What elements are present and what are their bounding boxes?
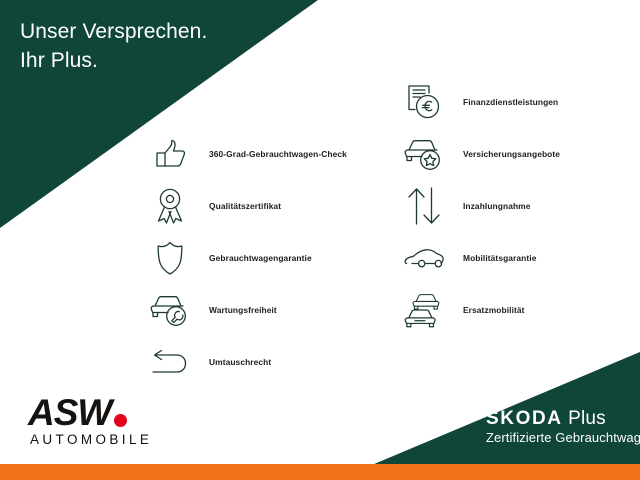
- document-euro-icon: [402, 82, 446, 122]
- feature-item: Mobilitätsgarantie: [402, 232, 560, 284]
- car-side-icon: [402, 238, 446, 278]
- up-down-arrows-icon: [402, 186, 446, 226]
- dealer-logo-dot: [114, 414, 127, 427]
- brand-logo-wordmark: ŠKODA Plus: [486, 408, 640, 429]
- feature-list-left: 360-Grad-Gebrauchtwagen-Check Qualitätsz…: [148, 128, 347, 388]
- feature-item: Inzahlungnahme: [402, 180, 560, 232]
- feature-label: Umtauschrecht: [209, 357, 271, 367]
- car-star-icon: [402, 134, 446, 174]
- dealer-logo-wordmark: ASW: [28, 396, 168, 430]
- feature-item: Ersatzmobilität: [402, 284, 560, 336]
- feature-label: Qualitätszertifikat: [209, 201, 281, 211]
- feature-label: Inzahlungnahme: [463, 201, 530, 211]
- car-wrench-icon: [148, 290, 192, 330]
- dealer-logo: ASW AUTOMOBILE: [28, 396, 168, 447]
- feature-item: Qualitätszertifikat: [148, 180, 347, 232]
- shield-icon: [148, 238, 192, 278]
- feature-label: Mobilitätsgarantie: [463, 253, 536, 263]
- feature-label: Ersatzmobilität: [463, 305, 525, 315]
- feature-label: Wartungsfreiheit: [209, 305, 277, 315]
- feature-item: 360-Grad-Gebrauchtwagen-Check: [148, 128, 347, 180]
- brand-logo: ŠKODA Plus Zertifizierte Gebrauchtwagen: [486, 408, 640, 446]
- feature-item: Umtauschrecht: [148, 336, 347, 388]
- feature-label: Gebrauchtwagengarantie: [209, 253, 312, 263]
- feature-label: 360-Grad-Gebrauchtwagen-Check: [209, 149, 347, 159]
- return-arrow-icon: [148, 342, 192, 382]
- orange-footer-bar: [0, 464, 640, 480]
- headline-line-2: Ihr Plus.: [20, 46, 207, 75]
- feature-list-right: Finanzdienstleistungen Versicherungsange…: [402, 76, 560, 336]
- page-title: Unser Versprechen. Ihr Plus.: [20, 17, 207, 75]
- feature-item: Versicherungsangebote: [402, 128, 560, 180]
- brand-logo-name: ŠKODA: [486, 408, 563, 429]
- feature-label: Versicherungsangebote: [463, 149, 560, 159]
- dealer-logo-name: ASW: [28, 396, 111, 430]
- award-rosette-icon: [148, 186, 192, 226]
- dealer-logo-subtitle: AUTOMOBILE: [28, 432, 168, 447]
- green-diagonal-bottom-right: [360, 340, 640, 470]
- thumbs-up-icon: [148, 134, 192, 174]
- two-cars-icon: [402, 290, 446, 330]
- brand-logo-subtitle: Zertifizierte Gebrauchtwagen: [486, 430, 640, 446]
- brand-logo-program: Plus: [563, 408, 606, 429]
- feature-item: Finanzdienstleistungen: [402, 76, 560, 128]
- feature-item: Gebrauchtwagengarantie: [148, 232, 347, 284]
- feature-label: Finanzdienstleistungen: [463, 97, 558, 107]
- promo-banner: Unser Versprechen. Ihr Plus. 360-Grad-Ge…: [0, 0, 640, 480]
- feature-item: Wartungsfreiheit: [148, 284, 347, 336]
- headline-line-1: Unser Versprechen.: [20, 17, 207, 46]
